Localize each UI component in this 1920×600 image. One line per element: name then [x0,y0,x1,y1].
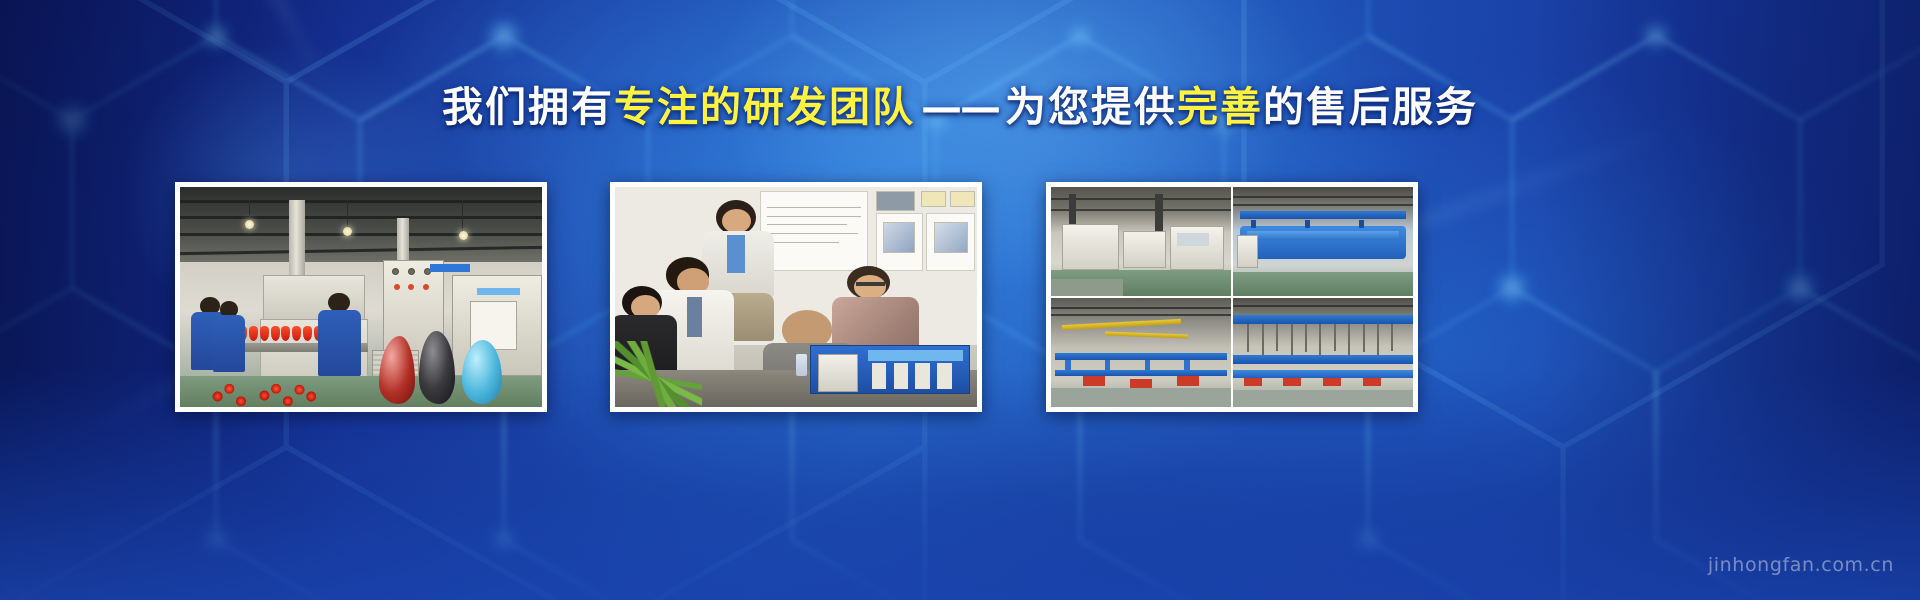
photo-q2 [1233,187,1413,296]
photo-panel-meeting[interactable] [610,182,982,412]
promo-banner: 我们拥有专注的研发团队——为您提供完善的售后服务 [0,0,1920,600]
plant-leaves [615,341,702,407]
person-face [722,209,751,233]
headline-segment-6: 的售后服务 [1263,83,1478,131]
headline-segment-4: 为您提供 [1005,83,1177,131]
headline-dash: —— [915,83,1005,131]
photo-q4 [1233,298,1413,407]
photo-panel-factory-line[interactable] [175,182,547,412]
photo-meeting [615,187,977,407]
photo-factory-line [180,187,542,407]
headline-segment-5: 完善 [1177,83,1263,131]
photo-equipment-grid [1051,187,1413,407]
photo-gallery [0,182,1920,414]
headline-segment-1: 我们拥有 [442,83,614,131]
headline-segment-2: 专注的研发团队 [614,83,915,131]
photo-q1 [1051,187,1231,296]
vase-dark [419,331,455,404]
photo-panel-equipment-grid[interactable] [1046,182,1418,412]
watermark: jinhongfan.com.cn [1708,554,1894,576]
headline: 我们拥有专注的研发团队——为您提供完善的售后服务 [0,82,1920,133]
photo-q3 [1051,298,1231,407]
